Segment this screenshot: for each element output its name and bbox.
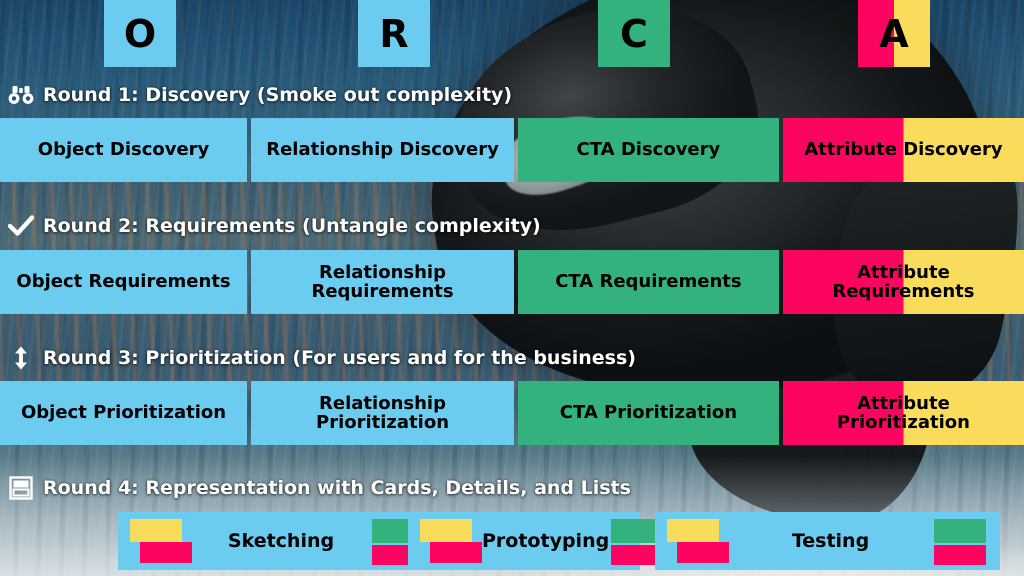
activity-cta-requirements[interactable]: CTA Requirements <box>518 250 779 314</box>
activity-relationship-discovery[interactable]: Relationship Discovery <box>251 118 514 182</box>
deliverable-testing-label: Testing <box>729 530 932 552</box>
round-2-activity-bar: Object Requirements Relationship Require… <box>0 250 1024 314</box>
activity-cta-prioritization-label: CTA Prioritization <box>560 403 737 422</box>
slide-content: O R C A Round 1: Disc <box>0 0 1024 576</box>
activity-object-requirements[interactable]: Object Requirements <box>0 250 247 314</box>
activity-attribute-prioritization[interactable]: Attribute Prioritization <box>783 381 1024 445</box>
deliverable-prototyping-label: Prototyping <box>482 530 609 552</box>
orca-framework-slide: O R C A Round 1: Disc <box>0 0 1024 576</box>
activity-relationship-prioritization[interactable]: Relationship Prioritization <box>251 381 514 445</box>
acronym-letter-r: R <box>358 0 430 67</box>
round-3-title: Round 3: Prioritization (For users and f… <box>43 347 636 369</box>
activity-relationship-requirements-label: Relationship Requirements <box>257 263 508 302</box>
round-1-heading: Round 1: Discovery (Smoke out complexity… <box>8 80 512 110</box>
round-3-heading: Round 3: Prioritization (For users and f… <box>8 343 636 373</box>
round-1-title: Round 1: Discovery (Smoke out complexity… <box>43 84 512 106</box>
acronym-letter-r-text: R <box>379 15 408 53</box>
card-layout-icon <box>8 476 34 500</box>
activity-cta-prioritization[interactable]: CTA Prioritization <box>518 381 779 445</box>
acronym-letter-o-text: O <box>124 15 156 53</box>
deliverable-sketching-label: Sketching <box>192 530 370 552</box>
deliverable-sketching[interactable]: Sketching <box>118 512 438 570</box>
activity-attribute-requirements-label: Attribute Requirements <box>789 263 1018 302</box>
prototype-artifact-icon <box>420 519 482 563</box>
activity-relationship-prioritization-label: Relationship Prioritization <box>257 394 508 433</box>
round-2-title: Round 2: Requirements (Untangle complexi… <box>43 215 541 237</box>
acronym-letter-c-text: C <box>620 15 648 53</box>
activity-attribute-discovery[interactable]: Attribute Discovery <box>783 118 1024 182</box>
activity-relationship-requirements[interactable]: Relationship Requirements <box>251 250 514 314</box>
deliverable-testing[interactable]: Testing <box>655 512 1000 570</box>
acronym-letter-a: A <box>858 0 930 67</box>
activity-object-requirements-label: Object Requirements <box>16 272 230 291</box>
round-1-activity-bar: Object Discovery Relationship Discovery … <box>0 118 1024 182</box>
round-3-activity-bar: Object Prioritization Relationship Prior… <box>0 381 1024 445</box>
round-4-title: Round 4: Representation with Cards, Deta… <box>43 477 631 499</box>
acronym-letter-o: O <box>104 0 176 67</box>
sketch-artifact-icon <box>130 519 192 563</box>
activity-relationship-discovery-label: Relationship Discovery <box>266 140 499 159</box>
round-4-heading: Round 4: Representation with Cards, Deta… <box>8 473 631 503</box>
acronym-letter-c: C <box>598 0 670 67</box>
activity-object-discovery-label: Object Discovery <box>38 140 210 159</box>
activity-object-prioritization-label: Object Prioritization <box>21 403 226 422</box>
activity-attribute-prioritization-label: Attribute Prioritization <box>789 394 1018 433</box>
testing-card-artifact-icon <box>932 519 988 563</box>
activity-attribute-discovery-label: Attribute Discovery <box>804 140 1002 159</box>
activity-object-discovery[interactable]: Object Discovery <box>0 118 247 182</box>
activity-attribute-requirements[interactable]: Attribute Requirements <box>783 250 1024 314</box>
round-2-heading: Round 2: Requirements (Untangle complexi… <box>8 211 541 241</box>
checkmark-icon <box>8 214 34 238</box>
deliverable-prototyping[interactable]: Prototyping <box>408 512 640 570</box>
activity-cta-discovery[interactable]: CTA Discovery <box>518 118 779 182</box>
testing-artifact-icon <box>667 519 729 563</box>
activity-cta-requirements-label: CTA Requirements <box>555 272 741 291</box>
up-down-arrow-icon <box>8 346 34 370</box>
activity-cta-discovery-label: CTA Discovery <box>577 140 721 159</box>
activity-object-prioritization[interactable]: Object Prioritization <box>0 381 247 445</box>
acronym-letter-a-text: A <box>879 15 908 53</box>
binoculars-icon <box>8 83 34 107</box>
